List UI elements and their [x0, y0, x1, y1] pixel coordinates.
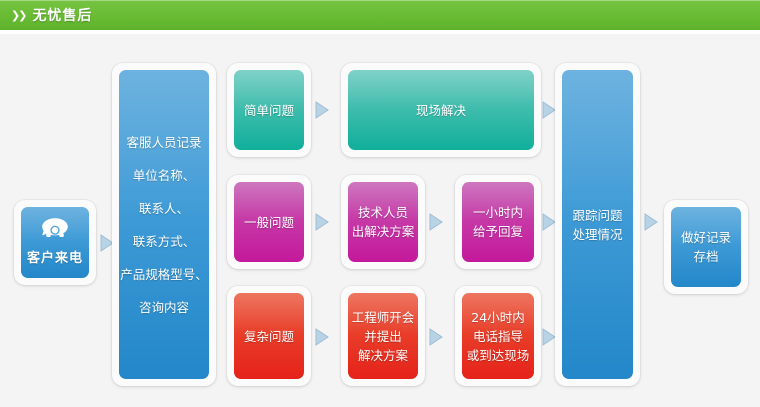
record-line-5: 产品规格型号、	[120, 258, 208, 291]
node-label: 一般问题	[244, 213, 294, 232]
node-tech-solution[interactable]: 技术人员 出解决方案	[341, 175, 425, 269]
node-onsite-resolution[interactable]: 现场解决	[341, 63, 541, 157]
node-track-problem[interactable]: 跟踪问题 处理情况	[555, 63, 640, 386]
node-label: 客户来电	[27, 249, 83, 268]
node-label-line-3: 或到达现场	[467, 346, 530, 365]
node-label-line-2: 出解决方案	[352, 222, 415, 241]
node-simple-problem[interactable]: 简单问题	[227, 63, 311, 157]
node-archive-record[interactable]: 做好记录 存档	[664, 200, 748, 294]
node-label-line-2: 存档	[693, 247, 718, 266]
node-label-line-1: 工程师开会	[352, 308, 415, 327]
node-label-line-2: 电话指导	[473, 327, 523, 346]
node-label-line-2: 给予回复	[473, 222, 523, 241]
page-header: ❯❯ 无忧售后	[0, 0, 760, 30]
node-24h-guidance[interactable]: 24小时内 电话指导 或到达现场	[455, 286, 541, 386]
node-label-line-1: 24小时内	[471, 308, 524, 327]
chevron-right-arrow-icon	[643, 211, 660, 233]
chevron-right-arrow-icon	[314, 99, 331, 121]
page-title: 无忧售后	[32, 5, 92, 25]
double-chevron-right-icon: ❯❯	[11, 10, 25, 21]
chevron-right-arrow-icon	[428, 211, 445, 233]
node-one-hour-reply[interactable]: 一小时内 给予回复	[455, 175, 541, 269]
node-label: 简单问题	[244, 101, 294, 120]
node-complex-problem[interactable]: 复杂问题	[227, 286, 311, 386]
node-label-line-2: 并提出	[364, 327, 402, 346]
record-line-1: 客服人员记录	[126, 126, 201, 159]
node-label-line-1: 做好记录	[681, 228, 731, 247]
node-label: 现场解决	[416, 101, 466, 120]
record-line-2: 单位名称、	[133, 159, 196, 192]
node-label-line-1: 跟踪问题	[572, 206, 622, 225]
node-label-line-1: 一小时内	[473, 203, 523, 222]
node-label-line-3: 解决方案	[358, 346, 408, 365]
node-service-record[interactable]: 客服人员记录 单位名称、 联系人、 联系方式、 产品规格型号、 咨询内容	[112, 63, 216, 386]
chevron-right-arrow-icon	[428, 326, 445, 348]
chevron-right-arrow-icon	[314, 326, 331, 348]
node-label-line-2: 处理情况	[572, 225, 622, 244]
record-line-4: 联系方式、	[133, 225, 196, 258]
node-label: 复杂问题	[244, 327, 294, 346]
node-general-problem[interactable]: 一般问题	[227, 175, 311, 269]
node-engineer-meeting[interactable]: 工程师开会 并提出 解决方案	[341, 286, 425, 386]
node-label-line-1: 技术人员	[358, 203, 408, 222]
telephone-icon	[40, 217, 70, 244]
node-customer-call[interactable]: 客户来电	[14, 200, 96, 285]
flowchart-canvas: 客户来电 客服人员记录 单位名称、 联系人、 联系方式、 产品规格型号、 咨询内…	[0, 34, 760, 407]
record-line-3: 联系人、	[139, 192, 189, 225]
chevron-right-arrow-icon	[314, 211, 331, 233]
record-line-6: 咨询内容	[139, 291, 189, 324]
